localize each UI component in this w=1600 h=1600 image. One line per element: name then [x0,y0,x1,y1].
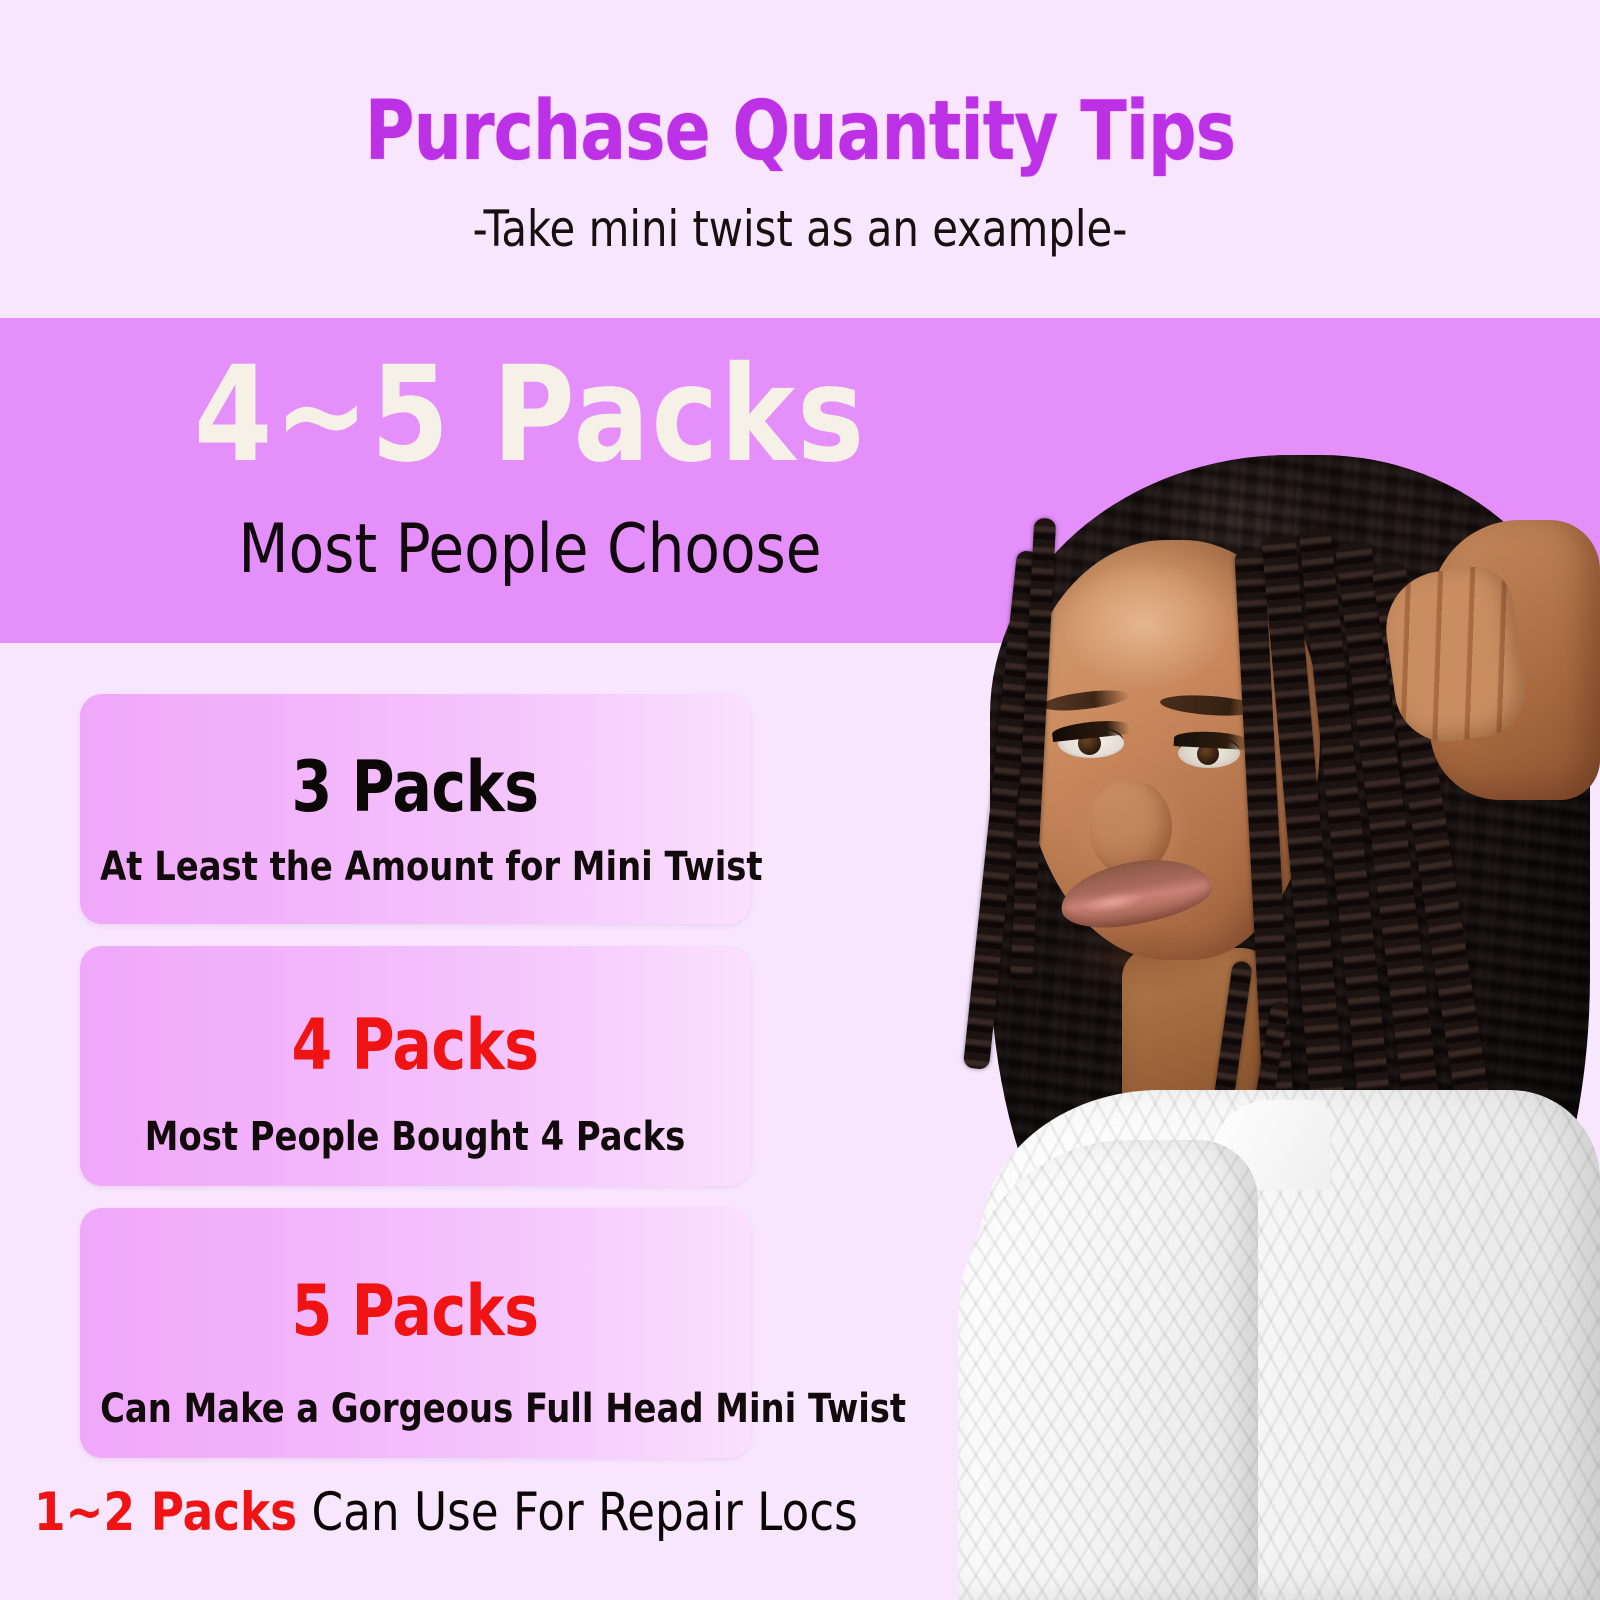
footer-note: 1~2 Packs Can Use For Repair Locs [34,1482,756,1543]
pack-option-card-3: 3 Packs At Least the Amount for Mini Twi… [80,694,750,924]
pack-options-list: 3 Packs At Least the Amount for Mini Twi… [80,694,750,1480]
sleeve-texture [958,1140,1258,1600]
pack-option-heading: 3 Packs [103,746,726,828]
footer-text: Can Use For Repair Locs [297,1482,858,1543]
header: Purchase Quantity Tips -Take mini twist … [0,0,1600,318]
pack-option-description: At Least the Amount for Mini Twist [100,844,730,890]
pack-option-card-4: 4 Packs Most People Bought 4 Packs [80,946,750,1186]
footer-highlight: 1~2 Packs [34,1482,297,1543]
forehead-highlight [1060,560,1230,690]
infographic-page: Purchase Quantity Tips -Take mini twist … [0,0,1600,1600]
chin-shadow [1058,920,1228,995]
page-subtitle: -Take mini twist as an example- [56,200,1544,258]
pack-option-heading: 4 Packs [103,1004,726,1086]
page-title: Purchase Quantity Tips [64,84,1536,179]
pack-option-description: Most People Bought 4 Packs [100,1114,730,1160]
pack-option-description: Can Make a Gorgeous Full Head Mini Twist [100,1386,730,1432]
pack-option-heading: 5 Packs [103,1270,726,1352]
pack-option-card-5: 5 Packs Can Make a Gorgeous Full Head Mi… [80,1208,750,1458]
